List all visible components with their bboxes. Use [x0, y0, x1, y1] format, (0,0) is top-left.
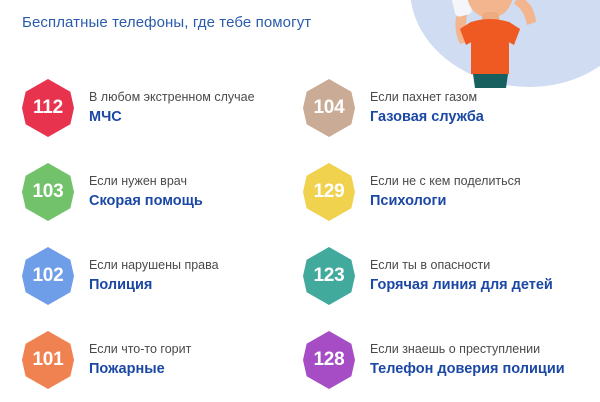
number-badge-102: 102 — [22, 247, 74, 305]
entry-label: Скорая помощь — [89, 192, 203, 210]
entry-label: Полиция — [89, 276, 219, 294]
emergency-entry-102: 102 Если нарушены права Полиция — [22, 234, 303, 318]
entry-label: Горячая линия для детей — [370, 276, 553, 294]
entry-caption: Если что-то горит — [89, 342, 191, 358]
page-title: Твои помощники — [192, 0, 311, 7]
header: Твои помощники Бесплатные телефоны, где … — [22, 0, 311, 31]
entry-text-block: В любом экстренном случае МЧС — [89, 90, 255, 127]
entry-caption: В любом экстренном случае — [89, 90, 255, 106]
page-title-clipped-region: Твои помощники — [22, 0, 311, 9]
number-badge-129: 129 — [303, 163, 355, 221]
entry-caption: Если пахнет газом — [370, 90, 484, 106]
emergency-entry-123: 123 Если ты в опасности Горячая линия дл… — [303, 234, 584, 318]
number-badge-103: 103 — [22, 163, 74, 221]
entry-text-block: Если не с кем поделиться Психологи — [370, 174, 521, 211]
entry-caption: Если нужен врач — [89, 174, 203, 190]
emergency-entry-129: 129 Если не с кем поделиться Психологи — [303, 150, 584, 234]
arm-right-shape — [514, 0, 536, 25]
badge-number: 101 — [32, 349, 63, 371]
entry-label: МЧС — [89, 108, 255, 126]
entry-text-block: Если ты в опасности Горячая линия для де… — [370, 258, 553, 295]
entry-label: Пожарные — [89, 360, 191, 378]
badge-number: 128 — [313, 349, 344, 371]
number-badge-123: 123 — [303, 247, 355, 305]
page-subtitle: Бесплатные телефоны, где тебе помогут — [22, 14, 311, 31]
entry-caption: Если нарушены права — [89, 258, 219, 274]
emergency-entry-104: 104 Если пахнет газом Газовая служба — [303, 66, 584, 150]
entry-text-block: Если нарушены права Полиция — [89, 258, 219, 295]
entry-caption: Если ты в опасности — [370, 258, 553, 274]
badge-number: 102 — [32, 265, 63, 287]
badge-number: 103 — [32, 181, 63, 203]
emergency-entry-101: 101 Если что-то горит Пожарные — [22, 318, 303, 402]
badge-number: 112 — [33, 97, 63, 119]
number-badge-104: 104 — [303, 79, 355, 137]
number-badge-101: 101 — [22, 331, 74, 389]
emergency-entry-128: 128 Если знаешь о преступлении Телефон д… — [303, 318, 584, 402]
number-badge-112: 112 — [22, 79, 74, 137]
number-badge-128: 128 — [303, 331, 355, 389]
badge-number: 104 — [313, 97, 344, 119]
entry-text-block: Если знаешь о преступлении Телефон довер… — [370, 342, 565, 379]
entry-label: Газовая служба — [370, 108, 484, 126]
entry-text-block: Если что-то горит Пожарные — [89, 342, 191, 379]
emergency-entry-112: 112 В любом экстренном случае МЧС — [22, 66, 303, 150]
emergency-entry-103: 103 Если нужен врач Скорая помощь — [22, 150, 303, 234]
emergency-numbers-grid: 112 В любом экстренном случае МЧС 104 Ес… — [22, 66, 584, 402]
entry-text-block: Если пахнет газом Газовая служба — [370, 90, 484, 127]
entry-text-block: Если нужен врач Скорая помощь — [89, 174, 203, 211]
entry-label: Телефон доверия полиции — [370, 360, 565, 378]
badge-number: 129 — [313, 181, 344, 203]
entry-label: Психологи — [370, 192, 521, 210]
entry-caption: Если знаешь о преступлении — [370, 342, 565, 358]
entry-caption: Если не с кем поделиться — [370, 174, 521, 190]
badge-number: 123 — [313, 265, 344, 287]
